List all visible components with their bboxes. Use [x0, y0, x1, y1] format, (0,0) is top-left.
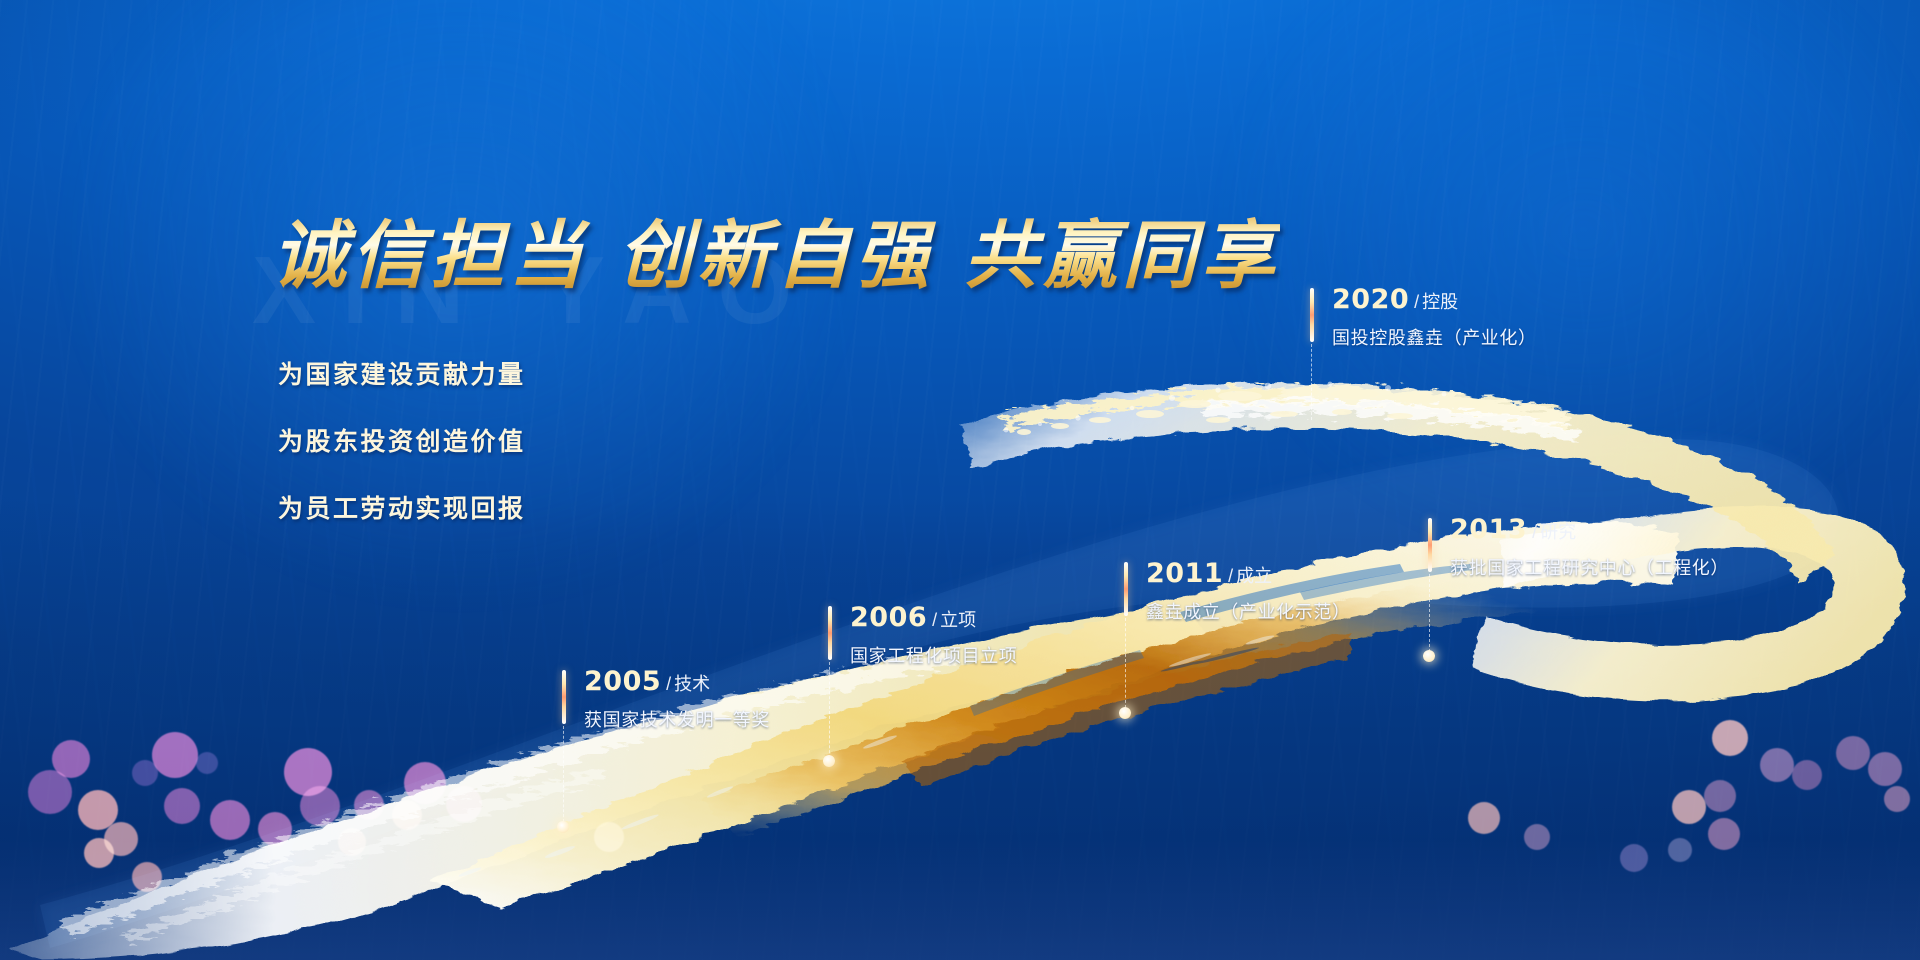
milestone-separator: /: [1532, 522, 1537, 542]
milestone-year: 2006: [850, 602, 927, 633]
page-title: 诚信担当创新自强共赢同享: [272, 196, 1280, 303]
slogan-line: 为员工劳动实现回报: [278, 489, 526, 525]
milestone-separator: /: [932, 610, 937, 630]
milestone-tag: 成立: [1236, 566, 1272, 586]
milestone-text: 2011/成立 鑫垚成立（产业化示范）: [1146, 558, 1351, 624]
milestone-leader-line-2020: [1311, 344, 1312, 420]
milestone-year: 2011: [1146, 558, 1223, 589]
milestone-node-2013: [1423, 650, 1435, 662]
milestone-tag: 研究: [1540, 522, 1576, 542]
milestone-header: 2005/技术: [584, 666, 770, 697]
milestone-description: 获国家技术发明一等奖: [584, 706, 770, 732]
milestone-separator: /: [666, 674, 671, 694]
headline-part-1: 诚信担当: [272, 216, 588, 298]
slogan-list: 为国家建设贡献力量 为股东投资创造价值 为员工劳动实现回报: [278, 355, 526, 525]
milestone-text: 2020/控股 国投控股鑫垚（产业化）: [1332, 284, 1537, 350]
headline-part-2: 创新自强: [618, 216, 934, 298]
slogan-line: 为国家建设贡献力量: [278, 355, 526, 391]
milestone-tag: 控股: [1422, 292, 1458, 312]
milestone-leader-line-2011: [1125, 618, 1126, 708]
milestone-accent-bar: [1124, 562, 1128, 616]
milestone-leader-line-2005: [563, 726, 564, 822]
milestone-year: 2020: [1332, 284, 1409, 315]
milestone-description: 鑫垚成立（产业化示范）: [1146, 598, 1351, 624]
milestone-description: 国家工程化项目立项: [850, 642, 1017, 668]
milestone-year: 2005: [584, 666, 661, 697]
milestone-accent-bar: [1310, 288, 1314, 342]
poster-canvas: XIN YAO: [0, 0, 1920, 960]
milestone-accent-bar: [562, 670, 566, 724]
milestone-header: 2020/控股: [1332, 284, 1537, 315]
milestone-tag: 立项: [940, 610, 976, 630]
milestone-text: 2006/立项 国家工程化项目立项: [850, 602, 1017, 668]
milestone-tag: 技术: [674, 674, 710, 694]
milestone-node-2005: [557, 821, 569, 833]
milestone-text: 2013/研究 获批国家工程研究中心（工程化）: [1450, 514, 1729, 580]
milestone-leader-line-2006: [829, 662, 830, 758]
milestone-accent-bar: [1428, 518, 1432, 572]
milestone-header: 2013/研究: [1450, 514, 1729, 545]
milestone-header: 2011/成立: [1146, 558, 1351, 589]
milestone-node-2006: [823, 755, 835, 767]
milestone-accent-bar: [828, 606, 832, 660]
milestone-header: 2006/立项: [850, 602, 1017, 633]
headline-part-3: 共赢同享: [964, 216, 1280, 298]
milestone-year: 2013: [1450, 514, 1527, 545]
slogan-line: 为股东投资创造价值: [278, 422, 526, 458]
milestone-description: 获批国家工程研究中心（工程化）: [1450, 554, 1729, 580]
milestone-leader-line-2013: [1429, 574, 1430, 652]
milestone-separator: /: [1414, 292, 1419, 312]
milestone-node-2011: [1119, 707, 1131, 719]
milestone-separator: /: [1228, 566, 1233, 586]
milestone-description: 国投控股鑫垚（产业化）: [1332, 324, 1537, 350]
milestone-text: 2005/技术 获国家技术发明一等奖: [584, 666, 770, 732]
